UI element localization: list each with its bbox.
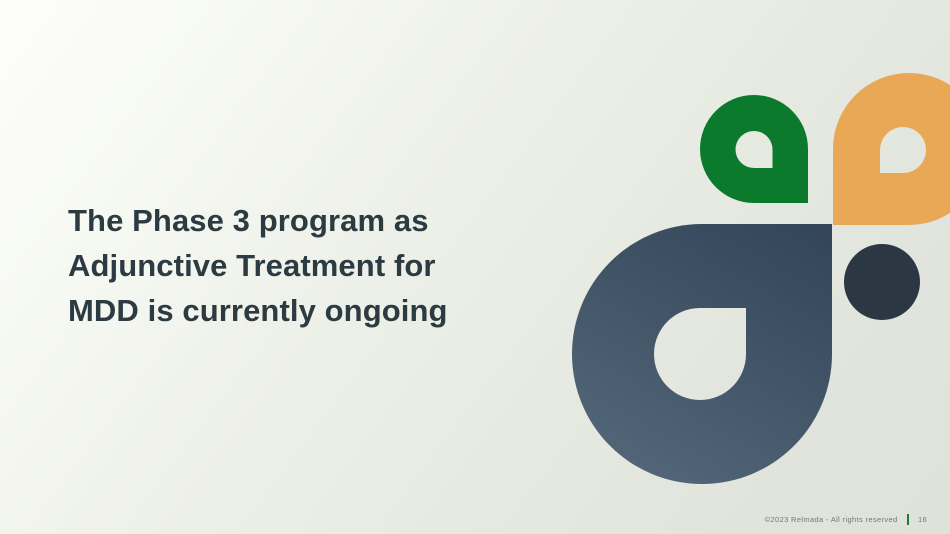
logo-shape-dark-dot xyxy=(844,244,920,320)
copyright-text: ©2023 Relmada - All rights reserved xyxy=(765,515,898,524)
slide-footer: ©2023 Relmada - All rights reserved 16 xyxy=(765,512,928,526)
title-line-3: MDD is currently ongoing xyxy=(68,288,538,333)
title-line-2: Adjunctive Treatment for xyxy=(68,243,538,288)
footer-separator-bar xyxy=(907,514,910,525)
slide-title: The Phase 3 program as Adjunctive Treatm… xyxy=(68,198,538,333)
title-line-1: The Phase 3 program as xyxy=(68,198,538,243)
page-number: 16 xyxy=(918,515,928,524)
slide-canvas: The Phase 3 program as Adjunctive Treatm… xyxy=(0,0,950,534)
